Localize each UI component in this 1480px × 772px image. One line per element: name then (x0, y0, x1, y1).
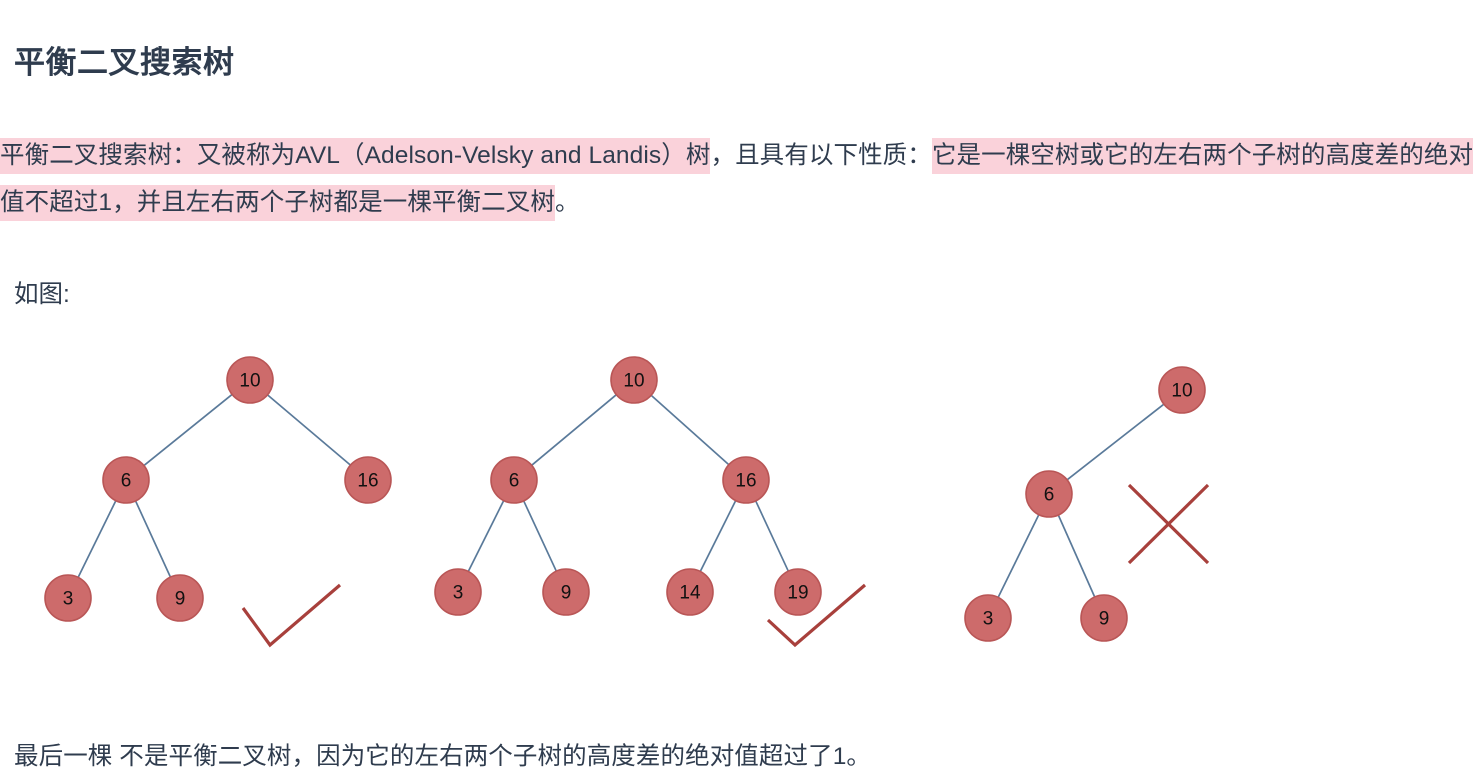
node-label: 10 (1171, 381, 1192, 402)
node-label: 3 (63, 589, 74, 610)
node-label: 9 (1099, 609, 1110, 630)
tree-node-14: 14 (667, 569, 713, 615)
tree-edge-6-9 (135, 500, 171, 578)
tree-node-10: 10 (227, 357, 273, 403)
tree-node-9: 9 (543, 569, 589, 615)
tree-edge-16-14 (700, 500, 736, 573)
node-label: 10 (239, 371, 260, 392)
node-label: 16 (357, 471, 378, 492)
tree-edge-16-19 (755, 500, 788, 572)
tree-edge-6-3 (998, 514, 1040, 599)
tree-node-6: 6 (1026, 471, 1072, 517)
tree-2: 10616391419 (435, 357, 865, 645)
node-label: 6 (1044, 485, 1055, 506)
definition-highlight-run: 平衡二叉搜索树：又被称为AVL（Adelson-Velsky and Landi… (0, 138, 710, 174)
definition-plain-run: 。 (555, 189, 580, 216)
node-label: 16 (735, 471, 756, 492)
node-label: 3 (983, 609, 994, 630)
tree-node-3: 3 (965, 595, 1011, 641)
tree-diagram-svg: 10616391061639141910639 (0, 340, 1480, 670)
tree-node-10: 10 (611, 357, 657, 403)
tree-node-3: 3 (45, 575, 91, 621)
tree-edge-10-6 (1066, 404, 1164, 481)
figure-lead-text: 如图: (14, 275, 70, 310)
tree-edge-10-6 (143, 394, 233, 466)
tree-figure-area: 10616391061639141910639 (0, 340, 1480, 670)
node-label: 14 (679, 583, 701, 604)
tree-node-6: 6 (491, 457, 537, 503)
node-label: 9 (175, 589, 186, 610)
checkmark-icon (243, 585, 340, 645)
tree-1: 1061639 (45, 357, 391, 645)
tree-edge-6-3 (78, 500, 117, 579)
tree-node-9: 9 (157, 575, 203, 621)
tree-node-3: 3 (435, 569, 481, 615)
tree-edge-10-6 (531, 394, 617, 466)
definition-plain-run: ，且具有以下性质： (710, 142, 931, 169)
tree-node-16: 16 (345, 457, 391, 503)
tree-node-10: 10 (1159, 367, 1205, 413)
node-label: 10 (623, 371, 644, 392)
figure-caption: 最后一棵 不是平衡二叉树，因为它的左右两个子树的高度差的绝对值超过了1。 (14, 737, 871, 772)
node-label: 19 (787, 583, 808, 604)
tree-node-6: 6 (103, 457, 149, 503)
node-label: 6 (509, 471, 520, 492)
node-label: 9 (561, 583, 572, 604)
tree-edge-6-3 (468, 500, 504, 573)
node-label: 6 (121, 471, 132, 492)
tree-node-16: 16 (723, 457, 769, 503)
tree-node-9: 9 (1081, 595, 1127, 641)
tree-3: 10639 (965, 367, 1208, 641)
tree-edge-6-9 (1058, 514, 1095, 598)
tree-edge-6-9 (523, 500, 556, 572)
definition-paragraph: 平衡二叉搜索树：又被称为AVL（Adelson-Velsky and Landi… (0, 132, 1480, 226)
tree-node-19: 19 (775, 569, 821, 615)
page-title: 平衡二叉搜索树 (14, 37, 235, 82)
node-label: 3 (453, 583, 464, 604)
tree-edge-10-16 (267, 394, 351, 466)
tree-edge-10-16 (650, 395, 729, 466)
